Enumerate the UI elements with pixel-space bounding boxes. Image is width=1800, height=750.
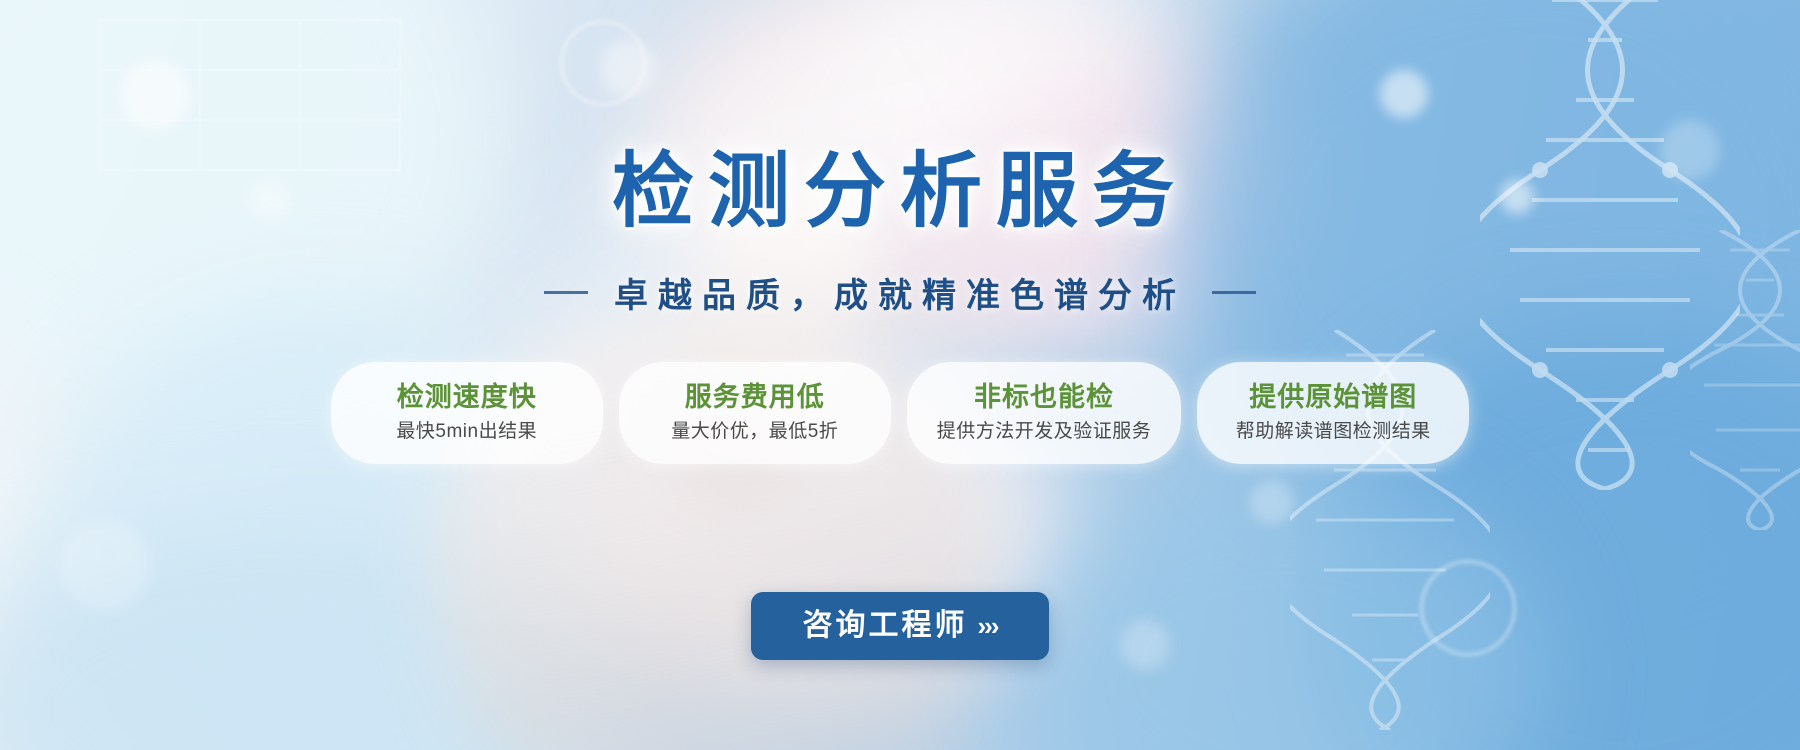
hero-banner: 检测分析服务 卓越品质，成就精准色谱分析 检测速度快 最快5min出结果 服务费… [0, 0, 1800, 750]
chevron-right-icon: ››› [978, 611, 998, 641]
feature-title: 检测速度快 [361, 380, 573, 415]
feature-pill-4[interactable]: 提供原始谱图 帮助解读谱图检测结果 [1197, 362, 1469, 464]
feature-subtitle: 最快5min出结果 [361, 420, 573, 445]
feature-subtitle: 帮助解读谱图检测结果 [1227, 420, 1439, 445]
page-subtitle: 卓越品质，成就精准色谱分析 [614, 268, 1186, 317]
page-title: 检测分析服务 [0, 124, 1800, 243]
feature-pill-3[interactable]: 非标也能检 提供方法开发及验证服务 [907, 362, 1182, 464]
feature-pill-list: 检测速度快 最快5min出结果 服务费用低 量大价优，最低5折 非标也能检 提供… [0, 362, 1800, 464]
feature-title: 非标也能检 [937, 380, 1152, 415]
subtitle-row: 卓越品质，成就精准色谱分析 [0, 268, 1800, 317]
cta-label: 咨询工程师 [803, 609, 968, 642]
feature-subtitle: 提供方法开发及验证服务 [937, 420, 1152, 445]
banner-content: 检测分析服务 卓越品质，成就精准色谱分析 检测速度快 最快5min出结果 服务费… [0, 0, 1800, 750]
decorative-dash-right [1212, 291, 1256, 294]
feature-title: 提供原始谱图 [1227, 380, 1439, 415]
consult-engineer-button[interactable]: 咨询工程师››› [751, 592, 1050, 660]
decorative-dash-left [544, 291, 588, 294]
cta-row: 咨询工程师››› [0, 592, 1800, 660]
feature-title: 服务费用低 [649, 380, 861, 415]
feature-pill-2[interactable]: 服务费用低 量大价优，最低5折 [619, 362, 891, 464]
feature-subtitle: 量大价优，最低5折 [649, 420, 861, 445]
feature-pill-1[interactable]: 检测速度快 最快5min出结果 [331, 362, 603, 464]
